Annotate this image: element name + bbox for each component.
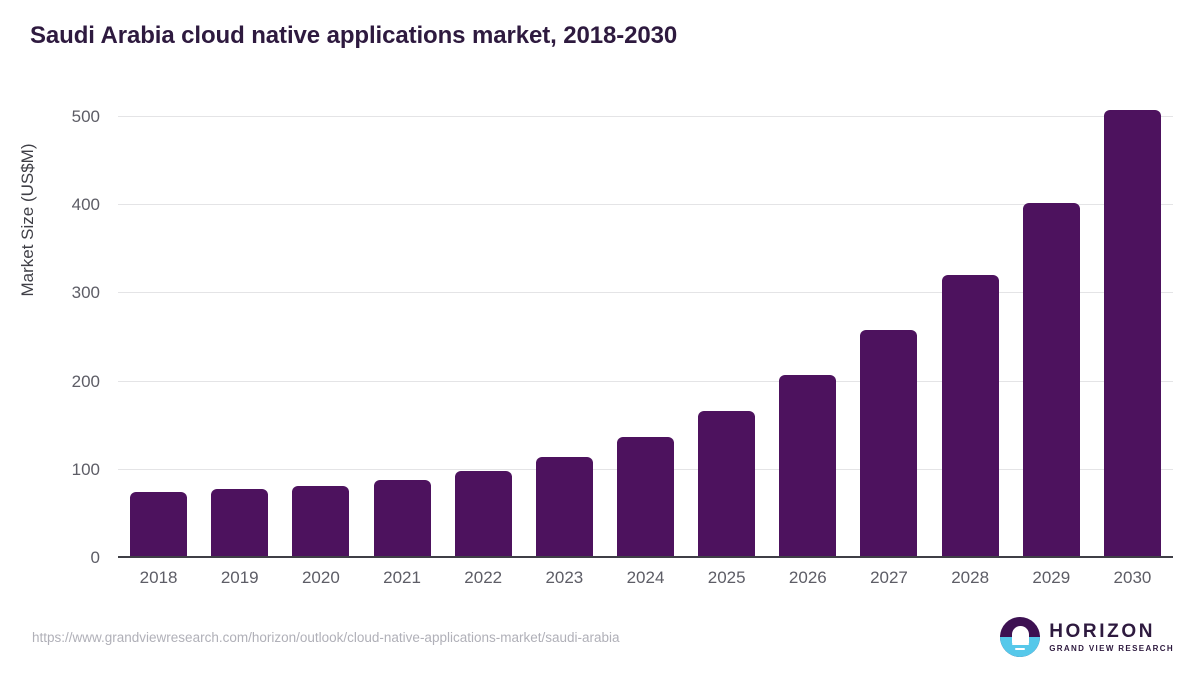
bar-slot: 2018 bbox=[118, 100, 199, 558]
bar-slot: 2030 bbox=[1092, 100, 1173, 558]
bar[interactable] bbox=[698, 411, 755, 558]
horizon-logo[interactable]: HORIZON GRAND VIEW RESEARCH bbox=[1000, 617, 1174, 657]
bar-slot: 2028 bbox=[930, 100, 1011, 558]
logo-tagline: GRAND VIEW RESEARCH bbox=[1049, 645, 1174, 653]
bar-slot: 2023 bbox=[524, 100, 605, 558]
source-url[interactable]: https://www.grandviewresearch.com/horizo… bbox=[32, 630, 620, 645]
bar[interactable] bbox=[860, 330, 917, 558]
bar[interactable] bbox=[942, 275, 999, 558]
logo-dome-shape bbox=[1012, 626, 1029, 643]
bar[interactable] bbox=[292, 486, 349, 558]
y-axis-tick-label: 300 bbox=[30, 283, 100, 303]
y-axis-tick-label: 500 bbox=[30, 107, 100, 127]
bar[interactable] bbox=[779, 375, 836, 558]
bar[interactable] bbox=[374, 480, 431, 558]
bar-slot: 2020 bbox=[280, 100, 361, 558]
x-axis-tick-label: 2024 bbox=[605, 568, 686, 588]
bar[interactable] bbox=[211, 489, 268, 558]
y-axis-tick-label: 200 bbox=[30, 372, 100, 392]
x-axis-tick-label: 2027 bbox=[848, 568, 929, 588]
x-axis-tick-label: 2018 bbox=[118, 568, 199, 588]
y-axis-title: Market Size (US$M) bbox=[18, 0, 38, 440]
bar-slot: 2024 bbox=[605, 100, 686, 558]
bar-slot: 2025 bbox=[686, 100, 767, 558]
page-title: Saudi Arabia cloud native applications m… bbox=[30, 22, 677, 50]
bar-slot: 2019 bbox=[199, 100, 280, 558]
bar-series: 2018201920202021202220232024202520262027… bbox=[118, 100, 1173, 558]
x-axis-tick-label: 2020 bbox=[280, 568, 361, 588]
bar[interactable] bbox=[536, 457, 593, 558]
x-axis-tick-label: 2025 bbox=[686, 568, 767, 588]
chart-page: Saudi Arabia cloud native applications m… bbox=[0, 0, 1200, 675]
x-axis-tick-label: 2026 bbox=[767, 568, 848, 588]
logo-wordmark: HORIZON GRAND VIEW RESEARCH bbox=[1049, 622, 1174, 653]
bar-slot: 2027 bbox=[848, 100, 929, 558]
x-axis-line bbox=[118, 556, 1173, 558]
x-axis-tick-label: 2021 bbox=[361, 568, 442, 588]
bar-slot: 2029 bbox=[1011, 100, 1092, 558]
y-axis-tick-label: 400 bbox=[30, 195, 100, 215]
y-axis-tick-group: 0100200300400500 bbox=[28, 0, 100, 675]
bar[interactable] bbox=[1023, 203, 1080, 558]
bar-slot: 2022 bbox=[443, 100, 524, 558]
x-axis-tick-label: 2030 bbox=[1092, 568, 1173, 588]
bar-slot: 2021 bbox=[361, 100, 442, 558]
plot-area: 2018201920202021202220232024202520262027… bbox=[118, 100, 1173, 558]
y-axis-tick-label: 0 bbox=[30, 548, 100, 568]
horizon-logo-icon bbox=[1000, 617, 1040, 657]
bar[interactable] bbox=[1104, 110, 1161, 558]
logo-name: HORIZON bbox=[1049, 622, 1174, 641]
bar[interactable] bbox=[130, 492, 187, 558]
logo-line-upper bbox=[1012, 643, 1029, 645]
bar-slot: 2026 bbox=[767, 100, 848, 558]
x-axis-tick-label: 2029 bbox=[1011, 568, 1092, 588]
x-axis-tick-label: 2023 bbox=[524, 568, 605, 588]
logo-line-lower bbox=[1015, 648, 1025, 650]
y-axis-tick-label: 100 bbox=[30, 460, 100, 480]
x-axis-tick-label: 2028 bbox=[930, 568, 1011, 588]
x-axis-tick-label: 2019 bbox=[199, 568, 280, 588]
bar[interactable] bbox=[455, 471, 512, 558]
bar[interactable] bbox=[617, 437, 674, 558]
x-axis-tick-label: 2022 bbox=[443, 568, 524, 588]
